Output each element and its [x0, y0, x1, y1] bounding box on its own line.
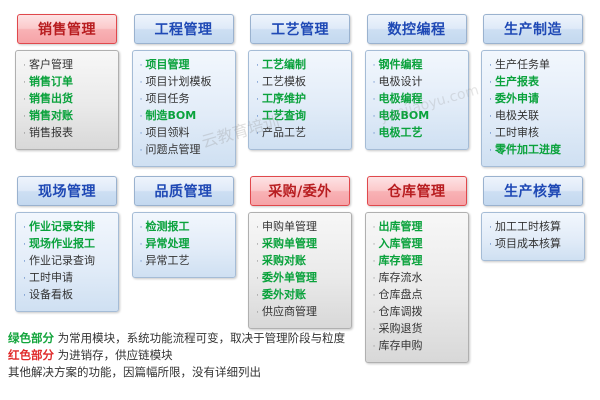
bullet-icon: · [137, 144, 146, 159]
module-panel-生产制造: ·生产任务单·生产报表·委外申请·电极关联·工时审核·零件加工进度 [481, 50, 585, 167]
list-item-label: 入库管理 [379, 236, 423, 251]
bullet-icon: · [486, 221, 495, 236]
list-item-label: 销售报表 [29, 125, 73, 140]
bullet-icon: · [486, 144, 495, 159]
bullet-icon: · [253, 255, 262, 270]
list-item[interactable]: ·设备看板 [20, 287, 114, 304]
list-item-label: 仓库调拨 [379, 304, 423, 319]
list-item[interactable]: ·客户管理 [20, 57, 114, 74]
list-item[interactable]: ·供应商管理 [253, 304, 347, 321]
list-item[interactable]: ·检测报工 [137, 219, 231, 236]
list-item-label: 设备看板 [29, 287, 73, 302]
module-header-现场管理[interactable]: 现场管理 [17, 176, 117, 206]
list-item[interactable]: ·销售订单 [20, 74, 114, 91]
list-item-label: 制造BOM [146, 108, 197, 123]
bullet-icon: · [20, 127, 29, 142]
module-item-list: ·工艺编制·工艺模板·工序维护·工艺查询·产品工艺 [253, 57, 347, 142]
module-生产制造: 生产制造·生产任务单·生产报表·委外申请·电极关联·工时审核·零件加工进度 [480, 14, 586, 167]
bullet-icon: · [486, 59, 495, 74]
module-header-仓库管理[interactable]: 仓库管理 [367, 176, 467, 206]
list-item[interactable]: ·项目领料 [137, 125, 231, 142]
module-工艺管理: 工艺管理·工艺编制·工艺模板·工序维护·工艺查询·产品工艺 [247, 14, 353, 150]
list-item-label: 问题点管理 [146, 142, 201, 157]
legend-red-key: 红色部分 [8, 348, 54, 362]
list-item[interactable]: ·电极编程 [370, 91, 464, 108]
list-item-label: 电极BOM [379, 108, 430, 123]
list-item-label: 仓库盘点 [379, 287, 423, 302]
list-item[interactable]: ·工时申请 [20, 270, 114, 287]
bullet-icon: · [20, 289, 29, 304]
bullet-icon: · [253, 127, 262, 142]
bullet-icon: · [20, 238, 29, 253]
module-header-品质管理[interactable]: 品质管理 [134, 176, 234, 206]
list-item[interactable]: ·采购单管理 [253, 236, 347, 253]
list-item-label: 零件加工进度 [495, 142, 561, 157]
bullet-icon: · [486, 127, 495, 142]
list-item[interactable]: ·入库管理 [370, 236, 464, 253]
module-header-生产核算[interactable]: 生产核算 [483, 176, 583, 206]
list-item-label: 库存流水 [379, 270, 423, 285]
list-item[interactable]: ·仓库盘点 [370, 287, 464, 304]
module-header-工程管理[interactable]: 工程管理 [134, 14, 234, 44]
list-item[interactable]: ·申购单管理 [253, 219, 347, 236]
list-item[interactable]: ·生产任务单 [486, 57, 580, 74]
bullet-icon: · [137, 127, 146, 142]
module-item-list: ·项目管理·项目计划模板·项目任务·制造BOM·项目领料·问题点管理 [137, 57, 231, 159]
legend-green-key: 绿色部分 [8, 331, 54, 345]
list-item[interactable]: ·出库管理 [370, 219, 464, 236]
erp-module-map: 销售管理·客户管理·销售订单·销售出货·销售对账·销售报表工程管理·项目管理·项… [0, 0, 600, 400]
module-采购/委外: 采购/委外·申购单管理·采购单管理·采购对账·委外单管理·委外对账·供应商管理 [247, 176, 353, 329]
list-item[interactable]: ·库存管理 [370, 253, 464, 270]
bullet-icon: · [137, 110, 146, 125]
list-item[interactable]: ·销售出货 [20, 91, 114, 108]
list-item-label: 工艺模板 [262, 74, 306, 89]
bullet-icon: · [253, 76, 262, 91]
list-item-label: 加工工时核算 [495, 219, 561, 234]
module-panel-数控编程: ·钢件编程·电极设计·电极编程·电极BOM·电极工艺 [365, 50, 469, 150]
bullet-icon: · [253, 221, 262, 236]
list-item[interactable]: ·项目任务 [137, 91, 231, 108]
bullet-icon: · [253, 272, 262, 287]
list-item-label: 钢件编程 [379, 57, 423, 72]
list-item-label: 委外对账 [262, 287, 306, 302]
module-panel-品质管理: ·检测报工·异常处理·异常工艺 [132, 212, 236, 278]
legend-red-text: 为进销存，供应链模块 [54, 348, 173, 362]
module-header-采购/委外[interactable]: 采购/委外 [250, 176, 350, 206]
legend-line-red: 红色部分 为进销存，供应链模块 [8, 347, 408, 364]
module-panel-工程管理: ·项目管理·项目计划模板·项目任务·制造BOM·项目领料·问题点管理 [132, 50, 236, 167]
bullet-icon: · [20, 221, 29, 236]
bullet-icon: · [137, 221, 146, 236]
list-item[interactable]: ·委外单管理 [253, 270, 347, 287]
list-item-label: 采购对账 [262, 253, 306, 268]
module-header-数控编程[interactable]: 数控编程 [367, 14, 467, 44]
list-item[interactable]: ·作业记录安排 [20, 219, 114, 236]
list-item[interactable]: ·电极关联 [486, 108, 580, 125]
module-panel-生产核算: ·加工工时核算·项目成本核算 [481, 212, 585, 261]
bullet-icon: · [486, 110, 495, 125]
list-item-label: 生产任务单 [495, 57, 550, 72]
list-item[interactable]: ·工序维护 [253, 91, 347, 108]
module-header-生产制造[interactable]: 生产制造 [483, 14, 583, 44]
list-item[interactable]: ·销售对账 [20, 108, 114, 125]
module-生产核算: 生产核算·加工工时核算·项目成本核算 [480, 176, 586, 261]
module-item-list: ·作业记录安排·现场作业报工·作业记录查询·工时申请·设备看板 [20, 219, 114, 304]
bullet-icon: · [370, 93, 379, 108]
list-item[interactable]: ·作业记录查询 [20, 253, 114, 270]
list-item-label: 作业记录查询 [29, 253, 95, 268]
list-item[interactable]: ·制造BOM [137, 108, 231, 125]
list-item[interactable]: ·电极工艺 [370, 125, 464, 142]
list-item-label: 采购单管理 [262, 236, 317, 251]
list-item-label: 检测报工 [146, 219, 190, 234]
module-item-list: ·加工工时核算·项目成本核算 [486, 219, 580, 253]
list-item[interactable]: ·现场作业报工 [20, 236, 114, 253]
list-item-label: 出库管理 [379, 219, 423, 234]
bullet-icon: · [370, 110, 379, 125]
list-item[interactable]: ·生产报表 [486, 74, 580, 91]
list-item-label: 工序维护 [262, 91, 306, 106]
list-item[interactable]: ·异常工艺 [137, 253, 231, 270]
module-item-list: ·检测报工·异常处理·异常工艺 [137, 219, 231, 270]
list-item[interactable]: ·问题点管理 [137, 142, 231, 159]
list-item-label: 销售对账 [29, 108, 73, 123]
module-header-工艺管理[interactable]: 工艺管理 [250, 14, 350, 44]
list-item-label: 电极编程 [379, 91, 423, 106]
list-item-label: 委外单管理 [262, 270, 317, 285]
list-item-label: 申购单管理 [262, 219, 317, 234]
bullet-icon: · [370, 255, 379, 270]
list-item[interactable]: ·销售报表 [20, 125, 114, 142]
module-item-list: ·申购单管理·采购单管理·采购对账·委外单管理·委外对账·供应商管理 [253, 219, 347, 321]
bullet-icon: · [370, 127, 379, 142]
list-item[interactable]: ·工艺编制 [253, 57, 347, 74]
bullet-icon: · [20, 110, 29, 125]
list-item[interactable]: ·零件加工进度 [486, 142, 580, 159]
list-item[interactable]: ·仓库调拨 [370, 304, 464, 321]
list-item[interactable]: ·委外申请 [486, 91, 580, 108]
bullet-icon: · [137, 93, 146, 108]
legend-line-note: 其他解决方案的功能，因篇幅所限，没有详细列出 [8, 364, 408, 381]
list-item-label: 项目领料 [146, 125, 190, 140]
bullet-icon: · [370, 238, 379, 253]
module-销售管理: 销售管理·客户管理·销售订单·销售出货·销售对账·销售报表 [14, 14, 120, 150]
list-item-label: 异常工艺 [146, 253, 190, 268]
list-item-label: 作业记录安排 [29, 219, 95, 234]
list-item[interactable]: ·采购对账 [253, 253, 347, 270]
list-item-label: 项目计划模板 [146, 74, 212, 89]
list-item[interactable]: ·委外对账 [253, 287, 347, 304]
list-item-label: 工艺编制 [262, 57, 306, 72]
list-item-label: 委外申请 [495, 91, 539, 106]
list-item[interactable]: ·工艺查询 [253, 108, 347, 125]
bullet-icon: · [20, 255, 29, 270]
list-item[interactable]: ·工时审核 [486, 125, 580, 142]
module-item-list: ·生产任务单·生产报表·委外申请·电极关联·工时审核·零件加工进度 [486, 57, 580, 159]
list-item-label: 电极关联 [495, 108, 539, 123]
list-item-label: 库存管理 [379, 253, 423, 268]
bullet-icon: · [370, 306, 379, 321]
list-item-label: 工时审核 [495, 125, 539, 140]
list-item-label: 客户管理 [29, 57, 73, 72]
bullet-icon: · [20, 59, 29, 74]
list-item-label: 产品工艺 [262, 125, 306, 140]
bullet-icon: · [253, 93, 262, 108]
list-item-label: 工时申请 [29, 270, 73, 285]
bullet-icon: · [137, 59, 146, 74]
bullet-icon: · [486, 238, 495, 253]
bullet-icon: · [253, 59, 262, 74]
list-item-label: 电极设计 [379, 74, 423, 89]
bullet-icon: · [370, 272, 379, 287]
bullet-icon: · [370, 221, 379, 236]
module-panel-现场管理: ·作业记录安排·现场作业报工·作业记录查询·工时申请·设备看板 [15, 212, 119, 312]
list-item-label: 项目管理 [146, 57, 190, 72]
legend: 绿色部分 为常用模块，系统功能流程可变，取决于管理阶段与粒度 红色部分 为进销存… [8, 330, 408, 381]
list-item-label: 销售出货 [29, 91, 73, 106]
bullet-icon: · [20, 93, 29, 108]
bullet-icon: · [370, 59, 379, 74]
bullet-icon: · [253, 306, 262, 321]
bullet-icon: · [370, 76, 379, 91]
bullet-icon: · [20, 272, 29, 287]
module-品质管理: 品质管理·检测报工·异常处理·异常工艺 [131, 176, 237, 278]
module-header-销售管理[interactable]: 销售管理 [17, 14, 117, 44]
legend-line-green: 绿色部分 为常用模块，系统功能流程可变，取决于管理阶段与粒度 [8, 330, 408, 347]
list-item-label: 现场作业报工 [29, 236, 95, 251]
module-现场管理: 现场管理·作业记录安排·现场作业报工·作业记录查询·工时申请·设备看板 [14, 176, 120, 312]
list-item[interactable]: ·项目成本核算 [486, 236, 580, 253]
module-数控编程: 数控编程·钢件编程·电极设计·电极编程·电极BOM·电极工艺 [364, 14, 470, 150]
module-row-top: 销售管理·客户管理·销售订单·销售出货·销售对账·销售报表工程管理·项目管理·项… [0, 14, 600, 167]
list-item[interactable]: ·电极设计 [370, 74, 464, 91]
bullet-icon: · [370, 289, 379, 304]
list-item[interactable]: ·项目管理 [137, 57, 231, 74]
module-工程管理: 工程管理·项目管理·项目计划模板·项目任务·制造BOM·项目领料·问题点管理 [131, 14, 237, 167]
list-item-label: 供应商管理 [262, 304, 317, 319]
list-item-label: 项目成本核算 [495, 236, 561, 251]
bullet-icon: · [253, 238, 262, 253]
list-item[interactable]: ·库存流水 [370, 270, 464, 287]
list-item[interactable]: ·异常处理 [137, 236, 231, 253]
bullet-icon: · [486, 93, 495, 108]
bullet-icon: · [137, 76, 146, 91]
bullet-icon: · [486, 76, 495, 91]
bullet-icon: · [20, 76, 29, 91]
module-panel-工艺管理: ·工艺编制·工艺模板·工序维护·工艺查询·产品工艺 [248, 50, 352, 150]
bullet-icon: · [137, 255, 146, 270]
module-panel-采购/委外: ·申购单管理·采购单管理·采购对账·委外单管理·委外对账·供应商管理 [248, 212, 352, 329]
list-item-label: 电极工艺 [379, 125, 423, 140]
list-item[interactable]: ·钢件编程 [370, 57, 464, 74]
module-item-list: ·钢件编程·电极设计·电极编程·电极BOM·电极工艺 [370, 57, 464, 142]
legend-green-text: 为常用模块，系统功能流程可变，取决于管理阶段与粒度 [54, 331, 345, 345]
module-panel-销售管理: ·客户管理·销售订单·销售出货·销售对账·销售报表 [15, 50, 119, 150]
bullet-icon: · [253, 289, 262, 304]
list-item-label: 异常处理 [146, 236, 190, 251]
list-item[interactable]: ·加工工时核算 [486, 219, 580, 236]
list-item-label: 销售订单 [29, 74, 73, 89]
list-item-label: 项目任务 [146, 91, 190, 106]
list-item-label: 工艺查询 [262, 108, 306, 123]
bullet-icon: · [253, 110, 262, 125]
list-item-label: 生产报表 [495, 74, 539, 89]
module-item-list: ·客户管理·销售订单·销售出货·销售对账·销售报表 [20, 57, 114, 142]
list-item[interactable]: ·产品工艺 [253, 125, 347, 142]
bullet-icon: · [137, 238, 146, 253]
list-item[interactable]: ·工艺模板 [253, 74, 347, 91]
list-item[interactable]: ·电极BOM [370, 108, 464, 125]
list-item[interactable]: ·项目计划模板 [137, 74, 231, 91]
